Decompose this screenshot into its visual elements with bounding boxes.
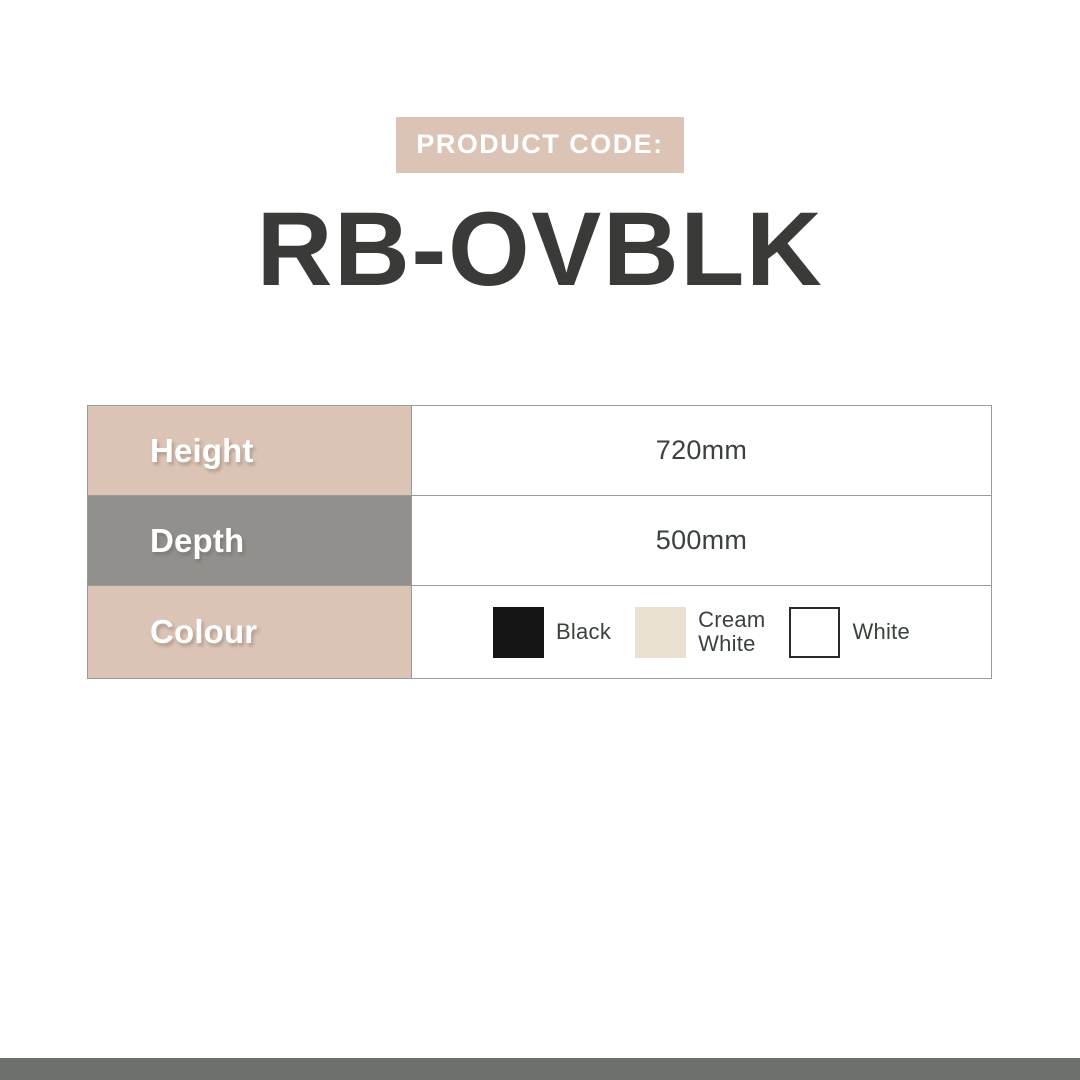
swatch-label-black: Black (556, 620, 611, 644)
specification-table: Height 720mm Depth 500mm Colour Black Cr… (87, 405, 992, 679)
spec-value-height: 720mm (412, 406, 991, 495)
spec-label-depth: Depth (88, 496, 412, 585)
table-row: Height 720mm (88, 406, 991, 496)
swatch-label-white: White (852, 620, 910, 644)
swatch-cream-white-icon (635, 607, 686, 658)
header: PRODUCT CODE: RB-OVBLK (0, 0, 1080, 306)
swatch-black-icon (493, 607, 544, 658)
footer-bar (0, 1058, 1080, 1080)
spec-value-depth: 500mm (412, 496, 991, 585)
swatch-white-icon (789, 607, 840, 658)
swatch-label-cream-white: Cream White (698, 608, 765, 656)
spec-label-colour: Colour (88, 586, 412, 678)
colour-option-black[interactable]: Black (493, 607, 611, 658)
product-code-badge: PRODUCT CODE: (396, 117, 683, 173)
table-row: Depth 500mm (88, 496, 991, 586)
colour-option-cream-white[interactable]: Cream White (635, 607, 765, 658)
spec-label-height: Height (88, 406, 412, 495)
colour-swatch-group: Black Cream White White (493, 607, 910, 658)
colour-option-white[interactable]: White (789, 607, 910, 658)
table-row: Colour Black Cream White White (88, 586, 991, 678)
page-title: RB-OVBLK (257, 193, 824, 306)
spec-value-colour: Black Cream White White (412, 586, 991, 678)
